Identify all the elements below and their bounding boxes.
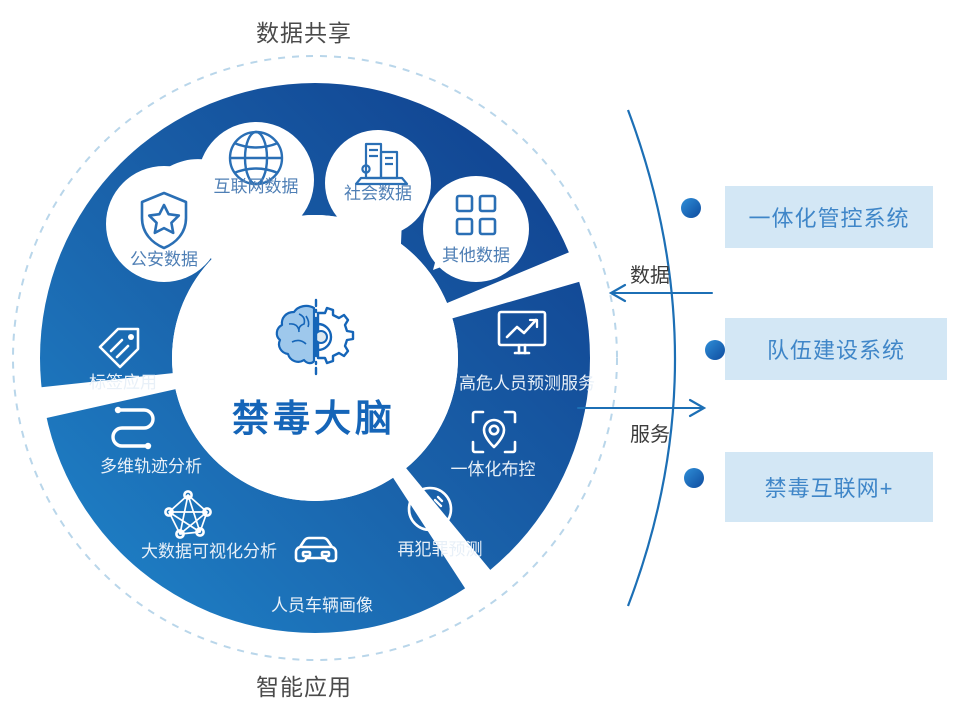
bubble-label-其他数据: 其他数据 bbox=[432, 241, 520, 266]
app-label-高危人员预测服务: 高危人员预测服务 bbox=[450, 369, 604, 394]
connector-dot bbox=[684, 468, 704, 488]
app-label-大数据可视化分析: 大数据可视化分析 bbox=[121, 537, 297, 562]
data-arrow-label: 数据 bbox=[630, 259, 670, 288]
app-label-标签应用: 标签应用 bbox=[79, 368, 167, 393]
system-box-禁毒互联网[interactable]: 禁毒互联网+ bbox=[725, 452, 933, 522]
bubble-其他数据[interactable] bbox=[423, 176, 529, 282]
bubble-label-社会数据: 社会数据 bbox=[334, 179, 422, 204]
center-title: 禁毒大脑 bbox=[232, 388, 396, 442]
bubble-label-互联网数据: 互联网数据 bbox=[201, 172, 311, 197]
right-connector bbox=[628, 110, 725, 606]
service-arrow-label: 服务 bbox=[630, 418, 670, 447]
app-label-再犯罪预测: 再犯罪预测 bbox=[385, 535, 495, 560]
app-label-人员车辆画像: 人员车辆画像 bbox=[256, 591, 388, 616]
bottom-label: 智能应用 bbox=[256, 668, 352, 702]
app-label-一体化布控: 一体化布控 bbox=[438, 455, 548, 480]
bubble-label-公安数据: 公安数据 bbox=[120, 245, 208, 270]
connector-dot bbox=[681, 198, 701, 218]
arrow-right-icon bbox=[578, 400, 704, 416]
top-label: 数据共享 bbox=[256, 14, 352, 48]
app-label-多维轨迹分析: 多维轨迹分析 bbox=[85, 452, 217, 477]
connector-dot bbox=[705, 340, 725, 360]
diagram-canvas: 数据共享 智能应用 数据 服务 禁毒大脑 一体化管控系统 队伍建设系统 禁毒互联… bbox=[0, 0, 977, 719]
system-box-一体化管控系统[interactable]: 一体化管控系统 bbox=[725, 186, 933, 248]
system-box-队伍建设系统[interactable]: 队伍建设系统 bbox=[725, 318, 947, 380]
